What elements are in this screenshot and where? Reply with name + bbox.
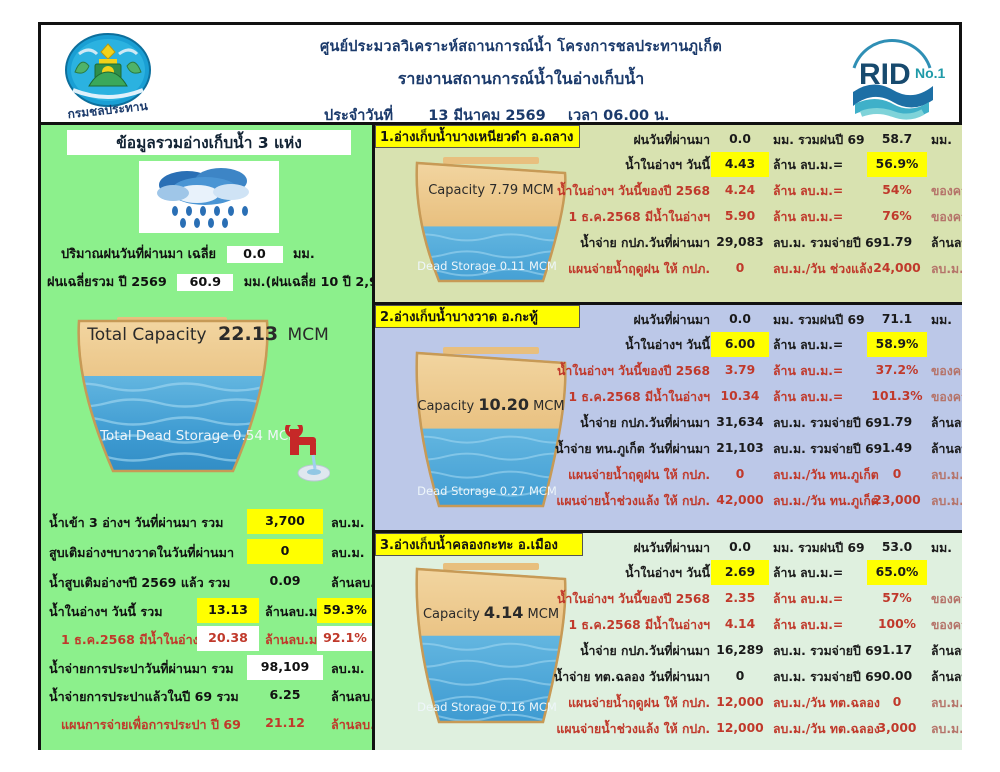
reservoir-row-unit-1: ลบ.ม./วัน ทต.ฉลอง <box>773 720 880 739</box>
reservoir-data-row: แผนจ่ายน้ำช่วงแล้ง ให้ กปภ.12,000ลบ.ม./ว… <box>581 716 962 741</box>
royal-irrigation-department-seal-icon: กรมชลประทาน <box>49 28 167 122</box>
reservoir-row-unit-1: ล้าน ลบ.ม.= <box>773 616 843 635</box>
summary-row: น้ำในอ่างฯ วันนี้ รวม13.13ล้านลบ.ม.59.3% <box>49 598 367 623</box>
reservoir-row-value-1: 2.69 <box>711 560 769 585</box>
summary-row-percent: 59.3% <box>317 598 373 623</box>
reservoir-data-row: น้ำในอ่างฯ วันนี้6.00ล้าน ลบ.ม.=58.9% <box>581 332 962 357</box>
header-line-1: ศูนย์ประมวลวิเคราะห์สถานการณ์น้ำ โครงการ… <box>181 35 861 58</box>
reservoir-capacity-text: Capacity <box>428 183 485 198</box>
reservoir-row-value-1: 0.0 <box>711 127 769 152</box>
reservoir-data-row: แผนจ่ายน้ำช่วงแล้ง ให้ กปภ.42,000ลบ.ม./ว… <box>581 488 962 513</box>
reservoir-capacity-label: Capacity 10.20 MCM <box>401 395 581 414</box>
reservoir-row-label: น้ำในอ่างฯ วันนี้ <box>625 336 710 355</box>
reservoir-name-badge: 2.อ่างเก็บน้ำบางวาด อ.กะทู้ <box>375 305 580 328</box>
summary-row-value: 0 <box>247 539 323 564</box>
summary-row-label: น้ำสูบเติมอ่างฯปี 2569 แล้ว รวม <box>49 573 230 593</box>
reservoir-row-unit-1: ล้าน ลบ.ม.= <box>773 336 843 355</box>
summary-row-value: 21.12 <box>247 711 323 736</box>
reservoir-row-unit-1: ลบ.ม./วัน ทน.ภูเก็ต <box>773 492 879 511</box>
reservoir-data-row: ฝนวันที่ผ่านมา0.0มม. รวมฝนปี 6958.7มม. <box>581 127 962 152</box>
reservoir-row-unit-2: ลบ.ม./วัน <box>931 694 962 713</box>
summary-rain-today-row: ปริมาณฝนวันที่ผ่านมา เฉลี่ย 0.0 มม. <box>61 243 315 264</box>
reservoir-row-value-1: 3.79 <box>711 358 769 383</box>
reservoir-row-unit-1: ล้าน ลบ.ม.= <box>773 182 843 201</box>
reservoir-data-row: น้ำในอ่างฯ วันนี้ของปี 25684.24ล้าน ลบ.ม… <box>581 178 962 203</box>
summary-row-label: น้ำจ่ายการประปาแล้วในปี 69 รวม <box>49 687 239 707</box>
reservoir-data-row: น้ำจ่าย ทน.ภูเก็ต วันที่ผ่านมา21,103ลบ.ม… <box>581 436 962 461</box>
svg-text:No.1: No.1 <box>915 65 946 81</box>
reservoir-data-row: น้ำในอ่างฯ วันนี้2.69ล้าน ลบ.ม.=65.0% <box>581 560 962 585</box>
reservoir-row-unit-1: ล้าน ลบ.ม.= <box>773 388 843 407</box>
reservoir-data-row: น้ำจ่าย กปภ.วันที่ผ่านมา31,634ลบ.ม. รวมจ… <box>581 410 962 435</box>
reservoir-row-unit-1: ลบ.ม. รวมจ่ายปี 69 <box>773 414 882 433</box>
water-tap-icon <box>278 425 330 487</box>
reservoir-data-row: น้ำจ่าย กปภ.วันที่ผ่านมา16,289ลบ.ม. รวมจ… <box>581 638 962 663</box>
reservoir-row-value-1: 31,634 <box>711 410 769 435</box>
reservoir-capacity-value: 4.14 <box>484 603 523 622</box>
rain-cloud-icon <box>139 161 279 233</box>
reservoir-tank-graphic: Capacity 7.79 MCMDead Storage 0.11 MCM <box>401 153 581 293</box>
reservoir-row-label: แผนจ่ายน้ำช่วงแล้ง ให้ กปภ. <box>556 492 710 511</box>
reservoir-row-unit-1: มม. รวมฝนปี 69 <box>773 131 865 150</box>
reservoir-row-value-2: 24,000 <box>867 256 927 281</box>
reservoir-dead-storage-label: Dead Storage 0.11 MCM <box>401 259 573 273</box>
header-titles: ศูนย์ประมวลวิเคราะห์สถานการณ์น้ำ โครงการ… <box>181 29 861 127</box>
reservoir-data-row: ฝนวันที่ผ่านมา0.0มม. รวมฝนปี 6953.0มม. <box>581 535 962 560</box>
reservoir-row-value-2: 0 <box>867 462 927 487</box>
summary-row-label: น้ำเข้า 3 อ่างฯ วันที่ผ่านมา รวม <box>49 513 223 533</box>
reservoir-row-unit-2: ลบ.ม./วัน <box>931 260 962 279</box>
reservoir-row-label: แผนจ่ายน้ำช่วงแล้ง ให้ กปภ. <box>556 720 710 739</box>
reservoir-row-unit-1: ลบ.ม. รวมจ่ายปี 69 <box>773 440 882 459</box>
reservoir-row-value-1: 4.43 <box>711 152 769 177</box>
reservoir-row-unit-1: ลบ.ม./วัน ทน.ภูเก็ต <box>773 466 879 485</box>
reservoir-row-value-2: 23,000 <box>867 488 927 513</box>
summary-row: น้ำจ่ายการประปาแล้วในปี 69 รวม6.25ล้านลบ… <box>49 683 367 708</box>
summary-row-value: 0.09 <box>247 569 323 594</box>
summary-rain-today-unit: มม. <box>293 247 315 262</box>
reservoir-row-label: 1 ธ.ค.2568 มีน้ำในอ่างฯ <box>569 616 710 635</box>
summary-rain-year-row: ฝนเฉลี่ยรวม ปี 2569 60.9 มม.(ฝนเฉลี่ย 10… <box>47 271 375 292</box>
reservoir-tank-graphic: Capacity 4.14 MCMDead Storage 0.16 MCM <box>401 559 581 734</box>
reservoir-row-unit-2: ลบ.ม./วัน <box>931 492 962 511</box>
reservoir-dead-storage-label: Dead Storage 0.16 MCM <box>401 700 573 714</box>
summary-row-value: 3,700 <box>247 509 323 534</box>
summary-row: สูบเติมอ่างฯบางวาดในวันที่ผ่านมา0ลบ.ม. <box>49 539 367 564</box>
reservoir-row-unit-1: ลบ.ม./วัน ทต.ฉลอง <box>773 694 880 713</box>
reservoir-row-label: 1 ธ.ค.2568 มีน้ำในอ่างฯ <box>569 388 710 407</box>
reservoir-row-unit-2: ของความจุ <box>931 590 962 609</box>
reservoir-row-value-1: 10.34 <box>711 384 769 409</box>
reservoir-row-unit-1: ล้าน ลบ.ม.= <box>773 590 843 609</box>
reservoir-data-row: ฝนวันที่ผ่านมา0.0มม. รวมฝนปี 6971.1มม. <box>581 307 962 332</box>
reservoir-row-value-1: 0 <box>711 664 769 689</box>
reservoir-row-unit-2: ล้านลบ.ม. <box>931 440 962 459</box>
reservoir-data-row: 1 ธ.ค.2568 มีน้ำในอ่างฯ4.14ล้าน ลบ.ม.=10… <box>581 612 962 637</box>
reservoir-row-value-2: 58.9% <box>867 332 927 357</box>
reservoir-row-unit-1: ล้าน ลบ.ม.= <box>773 564 843 583</box>
summary-row-unit: ล้านลบ.ม. <box>331 573 375 593</box>
reservoir-row-value-2: 1.79 <box>867 410 927 435</box>
reservoir-row-unit-1: มม. รวมฝนปี 69 <box>773 311 865 330</box>
reservoir-row-value-1: 42,000 <box>711 488 769 513</box>
summary-row-unit: ล้านลบ.ม. <box>331 687 375 707</box>
reservoir-row-value-1: 0 <box>711 256 769 281</box>
reservoir-row-value-2: 0 <box>867 690 927 715</box>
summary-rain-year-unit: มม.(ฝนเฉลี่ย 10 ปี 2,916 มม.) <box>244 275 375 290</box>
reservoir-row-label: น้ำจ่าย กปภ.วันที่ผ่านมา <box>580 414 710 433</box>
rid-logo-icon: RID No.1 <box>831 28 953 122</box>
reservoir-row-unit-1: มม. รวมฝนปี 69 <box>773 539 865 558</box>
reservoir-row-unit-2: มม. <box>931 131 952 150</box>
reservoir-capacity-label: Capacity 4.14 MCM <box>401 603 581 622</box>
reservoir-row-value-1: 5.90 <box>711 204 769 229</box>
reservoir-capacity-value: 7.79 <box>489 183 518 198</box>
reservoir-row-value-1: 0.0 <box>711 535 769 560</box>
reservoir-capacity-value: 10.20 <box>478 395 529 414</box>
reservoir-row-unit-2: มม. <box>931 311 952 330</box>
reservoir-row-label: ฝนวันที่ผ่านมา <box>633 311 710 330</box>
reservoir-name-badge: 1.อ่างเก็บน้ำบางเหนียวดำ อ.ถลาง <box>375 125 580 148</box>
reservoir-capacity-unit: MCM <box>528 607 560 622</box>
reservoir-data-row: แผนจ่ายน้ำฤดูฝน ให้ กปภ.12,000ลบ.ม./วัน … <box>581 690 962 715</box>
date-label: ประจำวันที่ <box>324 104 406 127</box>
reservoir-row-unit-1: ล้าน ลบ.ม.= <box>773 208 843 227</box>
reservoir-data-row: น้ำในอ่างฯ วันนี้ของปี 25683.79ล้าน ลบ.ม… <box>581 358 962 383</box>
reservoir-panel-1: 1.อ่างเก็บน้ำบางเหนียวดำ อ.ถลางCapacity … <box>375 125 962 305</box>
summary-row-unit: ลบ.ม. <box>331 513 365 533</box>
summary-row-unit: ลบ.ม. <box>331 659 365 679</box>
summary-row: น้ำเข้า 3 อ่างฯ วันที่ผ่านมา รวม3,700ลบ.… <box>49 509 367 534</box>
reservoir-data-row: น้ำจ่าย กปภ.วันที่ผ่านมา29,083ลบ.ม. รวมจ… <box>581 230 962 255</box>
reservoir-row-unit-1: ลบ.ม./วัน ช่วงแล้ง <box>773 260 873 279</box>
reservoir-row-value-2: 54% <box>867 178 927 203</box>
summary-rain-year-value: 60.9 <box>177 274 233 291</box>
reservoir-row-unit-1: ล้าน ลบ.ม.= <box>773 156 843 175</box>
total-capacity-unit: MCM <box>288 325 329 345</box>
reservoir-data-row: แผนจ่ายน้ำฤดูฝน ให้ กปภ.0ลบ.ม./วัน ช่วงแ… <box>581 256 962 281</box>
svg-text:กรมชลประทาน: กรมชลประทาน <box>67 99 149 121</box>
summary-row-unit: ล้านลบ.ม. <box>265 602 322 622</box>
summary-rain-today-value: 0.0 <box>227 246 283 263</box>
summary-row-label: น้ำจ่ายการประปาวันที่ผ่านมา รวม <box>49 659 234 679</box>
reservoir-row-label: น้ำจ่าย กปภ.วันที่ผ่านมา <box>580 234 710 253</box>
reservoir-capacity-unit: MCM <box>522 183 554 198</box>
report-header: กรมชลประทาน ศูนย์ประมวลวิเคราะห์สถานการณ… <box>41 25 959 125</box>
reservoir-row-value-2: 37.2% <box>867 358 927 383</box>
reservoir-row-unit-2: ล้านลบ.ม. <box>931 668 962 687</box>
summary-row: แผนการจ่ายเพื่อการประปา ปี 6921.12ล้านลบ… <box>49 711 367 736</box>
reservoir-row-value-1: 12,000 <box>711 690 769 715</box>
reservoir-row-label: แผนจ่ายน้ำฤดูฝน ให้ กปภ. <box>568 466 710 485</box>
summary-title: ข้อมูลรวมอ่างเก็บน้ำ 3 แห่ง <box>67 130 351 155</box>
reservoir-row-label: น้ำจ่าย ทน.ภูเก็ต วันที่ผ่านมา <box>555 440 710 459</box>
reservoir-row-label: น้ำในอ่างฯ วันนี้ของปี 2568 <box>557 590 710 609</box>
reservoir-row-label: น้ำจ่าย ทต.ฉลอง วันที่ผ่านมา <box>554 668 710 687</box>
reservoir-row-value-1: 4.14 <box>711 612 769 637</box>
summary-row-value: 13.13 <box>197 598 259 623</box>
reservoir-row-value-1: 4.24 <box>711 178 769 203</box>
reservoir-data-row: น้ำในอ่างฯ วันนี้4.43ล้าน ลบ.ม.=56.9% <box>581 152 962 177</box>
reservoir-row-unit-2: ล้านลบ.ม. <box>931 642 962 661</box>
reservoir-row-value-2: 76% <box>867 204 927 229</box>
summary-row-label: น้ำในอ่างฯ วันนี้ รวม <box>49 602 163 622</box>
reservoir-row-label: น้ำในอ่างฯ วันนี้ <box>625 564 710 583</box>
total-capacity-value: 22.13 <box>218 323 278 345</box>
summary-row-value: 98,109 <box>247 655 323 680</box>
reservoir-row-label: น้ำในอ่างฯ วันนี้ของปี 2568 <box>557 182 710 201</box>
summary-row-unit: ล้านลบ.ม. <box>331 715 375 735</box>
reservoir-data-row: 1 ธ.ค.2568 มีน้ำในอ่างฯ5.90ล้าน ลบ.ม.=76… <box>581 204 962 229</box>
reservoir-row-value-2: 1.17 <box>867 638 927 663</box>
reservoir-dead-storage-label: Dead Storage 0.27 MCM <box>401 484 573 498</box>
summary-row-label: สูบเติมอ่างฯบางวาดในวันที่ผ่านมา <box>49 543 234 563</box>
summary-row-value: 20.38 <box>197 626 259 651</box>
total-capacity-label: Total Capacity 22.13 MCM <box>55 323 361 345</box>
summary-row: 1 ธ.ค.2568 มีน้ำในอ่างฯ20.38ล้านลบ.ม.92.… <box>49 626 367 651</box>
reservoir-row-unit-2: ของความจุ <box>931 388 962 407</box>
reservoir-row-value-2: 1.79 <box>867 230 927 255</box>
reservoir-row-value-2: 1.49 <box>867 436 927 461</box>
reservoir-row-label: น้ำในอ่างฯ วันนี้ของปี 2568 <box>557 362 710 381</box>
summary-panel: ข้อมูลรวมอ่างเก็บน้ำ 3 แห่ง <box>41 125 375 750</box>
reservoir-capacity-unit: MCM <box>533 399 565 414</box>
reservoir-row-unit-1: ลบ.ม. รวมจ่ายปี 69 <box>773 668 882 687</box>
reservoir-row-value-1: 0 <box>711 462 769 487</box>
report-page: กรมชลประทาน ศูนย์ประมวลวิเคราะห์สถานการณ… <box>0 0 1000 772</box>
reservoir-row-value-1: 29,083 <box>711 230 769 255</box>
reservoir-row-value-2: 65.0% <box>867 560 927 585</box>
header-line-2: รายงานสถานการณ์น้ำในอ่างเก็บน้ำ <box>181 67 861 92</box>
report-frame: กรมชลประทาน ศูนย์ประมวลวิเคราะห์สถานการณ… <box>38 22 962 750</box>
time-value: เวลา 06.00 น. <box>568 104 718 127</box>
reservoir-data-row: น้ำในอ่างฯ วันนี้ของปี 25682.35ล้าน ลบ.ม… <box>581 586 962 611</box>
date-value: 13 มีนาคม 2569 <box>412 104 562 127</box>
reservoir-row-value-2: 101.3% <box>867 384 927 409</box>
summary-row-label: 1 ธ.ค.2568 มีน้ำในอ่างฯ <box>61 630 206 650</box>
reservoir-tank-graphic: Capacity 10.20 MCMDead Storage 0.27 MCM <box>401 343 581 518</box>
reservoir-row-unit-1: ลบ.ม. รวมจ่ายปี 69 <box>773 234 882 253</box>
reservoir-row-value-1: 0.0 <box>711 307 769 332</box>
reservoir-row-label: น้ำในอ่างฯ วันนี้ <box>625 156 710 175</box>
reservoir-data-row: แผนจ่ายน้ำฤดูฝน ให้ กปภ.0ลบ.ม./วัน ทน.ภู… <box>581 462 962 487</box>
reservoir-row-value-1: 16,289 <box>711 638 769 663</box>
total-capacity-text: Total Capacity <box>87 325 206 345</box>
reservoir-row-value-1: 21,103 <box>711 436 769 461</box>
reservoir-row-value-2: 0.00 <box>867 664 927 689</box>
reservoir-data-row: 1 ธ.ค.2568 มีน้ำในอ่างฯ10.34ล้าน ลบ.ม.=1… <box>581 384 962 409</box>
reservoir-row-value-2: 71.1 <box>867 307 927 332</box>
reservoir-capacity-label: Capacity 7.79 MCM <box>401 183 581 198</box>
reservoir-row-label: ฝนวันที่ผ่านมา <box>633 539 710 558</box>
summary-row-value: 6.25 <box>247 683 323 708</box>
reservoir-panel-2: 2.อ่างเก็บน้ำบางวาด อ.กะทู้Capacity 10.2… <box>375 305 962 533</box>
summary-row-percent: 92.1% <box>317 626 373 651</box>
summary-row: น้ำจ่ายการประปาวันที่ผ่านมา รวม98,109ลบ.… <box>49 655 367 680</box>
reservoir-row-label: แผนจ่ายน้ำฤดูฝน ให้ กปภ. <box>568 694 710 713</box>
reservoir-row-unit-2: ของความจุ <box>931 208 962 227</box>
reservoir-panels: 1.อ่างเก็บน้ำบางเหนียวดำ อ.ถลางCapacity … <box>375 125 962 750</box>
reservoir-row-value-1: 12,000 <box>711 716 769 741</box>
reservoir-panel-3: 3.อ่างเก็บน้ำคลองกะทะ อ.เมืองCapacity 4.… <box>375 533 962 750</box>
summary-row: น้ำสูบเติมอ่างฯปี 2569 แล้ว รวม0.09ล้านล… <box>49 569 367 594</box>
reservoir-row-unit-1: ลบ.ม. รวมจ่ายปี 69 <box>773 642 882 661</box>
reservoir-row-unit-1: ล้าน ลบ.ม.= <box>773 362 843 381</box>
reservoir-capacity-text: Capacity <box>423 607 480 622</box>
reservoir-row-unit-2: ล้านลบ.ม. <box>931 234 962 253</box>
reservoir-name-badge: 3.อ่างเก็บน้ำคลองกะทะ อ.เมือง <box>375 533 583 556</box>
summary-row-unit: ล้านลบ.ม. <box>265 630 322 650</box>
reservoir-row-label: ฝนวันที่ผ่านมา <box>633 131 710 150</box>
reservoir-row-label: น้ำจ่าย กปภ.วันที่ผ่านมา <box>580 642 710 661</box>
summary-row-unit: ลบ.ม. <box>331 543 365 563</box>
reservoir-row-label: แผนจ่ายน้ำฤดูฝน ให้ กปภ. <box>568 260 710 279</box>
reservoir-row-unit-2: ของความจุ <box>931 362 962 381</box>
reservoir-row-value-1: 6.00 <box>711 332 769 357</box>
reservoir-row-value-2: 56.9% <box>867 152 927 177</box>
reservoir-data-row: น้ำจ่าย ทต.ฉลอง วันที่ผ่านมา0ลบ.ม. รวมจ่… <box>581 664 962 689</box>
reservoir-row-unit-2: ของความจุ <box>931 616 962 635</box>
reservoir-row-value-1: 2.35 <box>711 586 769 611</box>
reservoir-row-unit-2: มม. <box>931 539 952 558</box>
reservoir-row-label: 1 ธ.ค.2568 มีน้ำในอ่างฯ <box>569 208 710 227</box>
reservoir-row-unit-2: ลบ.ม./วัน <box>931 720 962 739</box>
reservoir-row-value-2: 100% <box>867 612 927 637</box>
reservoir-row-value-2: 53.0 <box>867 535 927 560</box>
summary-rain-year-label: ฝนเฉลี่ยรวม ปี 2569 <box>47 275 167 290</box>
reservoir-row-unit-2: ของความจุ <box>931 182 962 201</box>
reservoir-row-value-2: 3,000 <box>867 716 927 741</box>
header-date-time: ประจำวันที่ 13 มีนาคม 2569 เวลา 06.00 น. <box>181 104 861 127</box>
reservoir-row-unit-2: ลบ.ม./วัน <box>931 466 962 485</box>
reservoir-row-value-2: 57% <box>867 586 927 611</box>
reservoir-row-value-2: 58.7 <box>867 127 927 152</box>
reservoir-capacity-text: Capacity <box>417 399 474 414</box>
summary-row-label: แผนการจ่ายเพื่อการประปา ปี 69 <box>61 715 241 735</box>
reservoir-row-unit-2: ล้านลบ.ม. <box>931 414 962 433</box>
summary-rain-today-label: ปริมาณฝนวันที่ผ่านมา เฉลี่ย <box>61 247 216 262</box>
